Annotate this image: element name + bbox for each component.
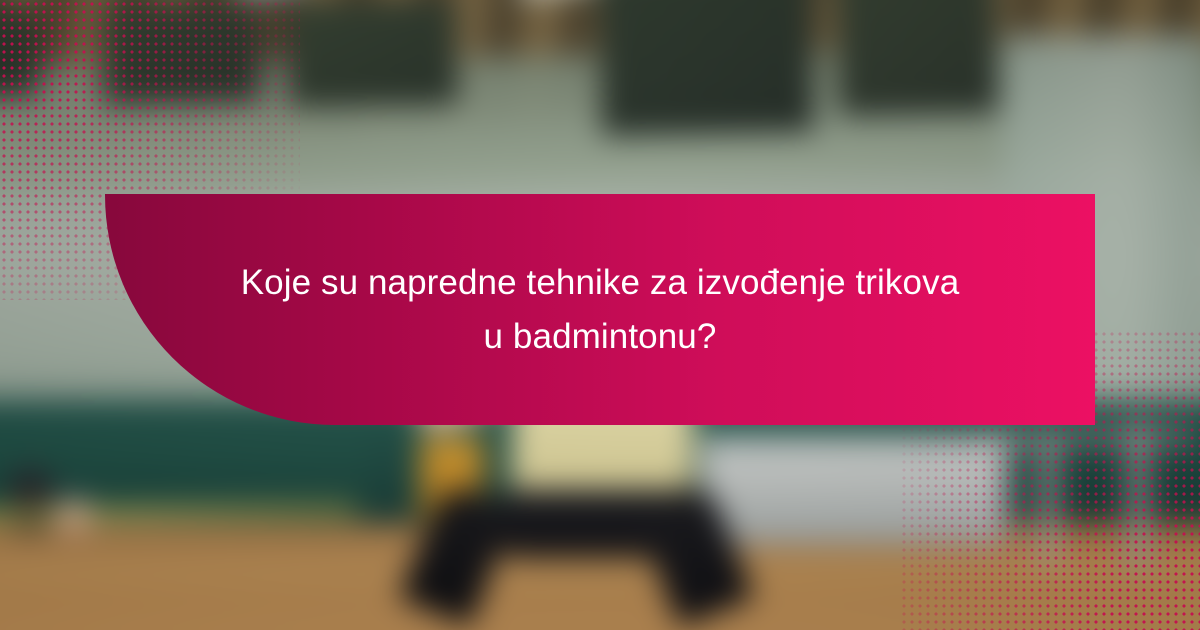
page-title-line-2: u badmintonu? — [484, 317, 717, 356]
share-card: Koje su napredne tehnike za izvođenje tr… — [0, 0, 1200, 630]
title-banner: Koje su napredne tehnike za izvođenje tr… — [105, 194, 1095, 425]
page-title-line-1: Koje su napredne tehnike za izvođenje tr… — [241, 263, 960, 302]
page-title: Koje su napredne tehnike za izvođenje tr… — [241, 256, 960, 362]
